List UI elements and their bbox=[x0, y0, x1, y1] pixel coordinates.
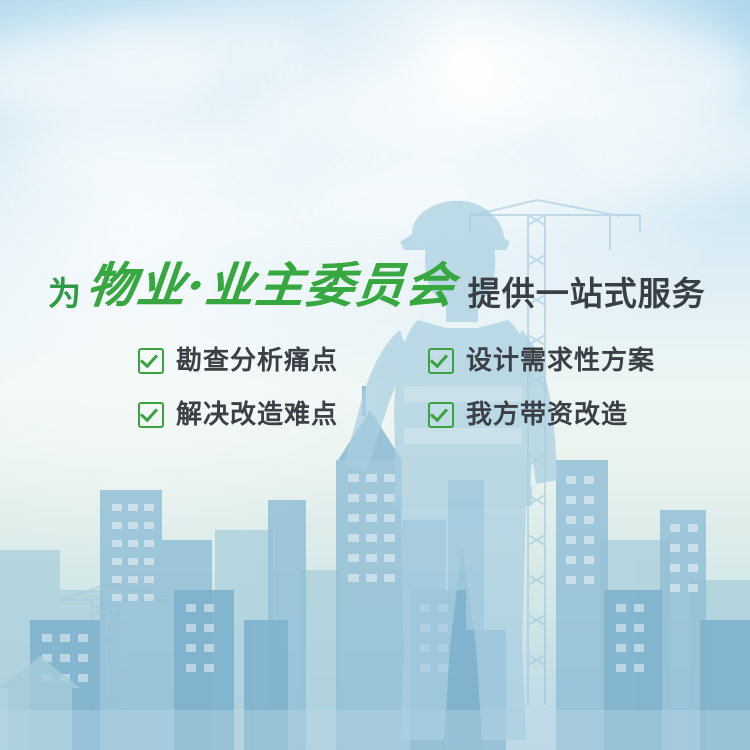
checkbox-icon bbox=[138, 348, 164, 374]
feature-label: 解决改造难点 bbox=[176, 402, 338, 428]
feature-label: 设计需求性方案 bbox=[466, 348, 655, 374]
checkbox-icon bbox=[138, 402, 164, 428]
feature-label: 勘查分析痛点 bbox=[176, 348, 338, 374]
feature-list: 勘查分析痛点 设计需求性方案 解决改造难点 我方带资改造 bbox=[138, 336, 698, 440]
headline-brush-text: 物业·业主委员会 bbox=[84, 262, 458, 310]
headline-prefix: 为 bbox=[48, 277, 81, 310]
checkbox-icon bbox=[428, 348, 454, 374]
headline: 为 物业·业主委员会 提供一站式服务 bbox=[48, 248, 738, 310]
feature-item: 解决改造难点 bbox=[138, 390, 408, 440]
feature-item: 设计需求性方案 bbox=[428, 336, 698, 386]
headline-suffix: 提供一站式服务 bbox=[468, 277, 706, 310]
feature-label: 我方带资改造 bbox=[466, 402, 628, 428]
promo-banner: 为 物业·业主委员会 提供一站式服务 勘查分析痛点 设计需求性方案 解决改造难点… bbox=[0, 0, 750, 750]
checkbox-icon bbox=[428, 402, 454, 428]
feature-item: 勘查分析痛点 bbox=[138, 336, 408, 386]
feature-item: 我方带资改造 bbox=[428, 390, 698, 440]
